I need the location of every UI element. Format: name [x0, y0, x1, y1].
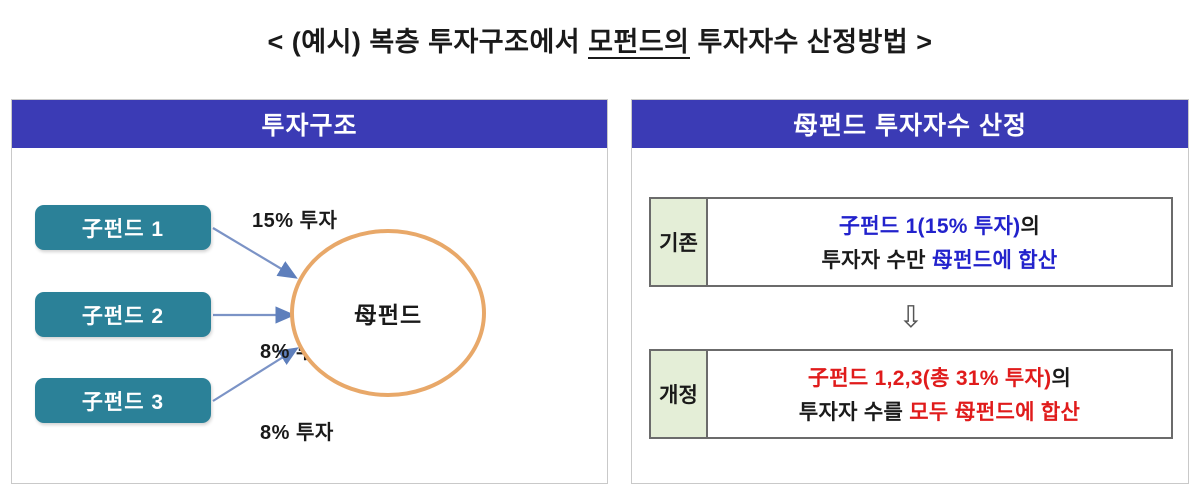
calc-row-label-existing: 기존 — [651, 199, 708, 285]
calc-line-revised-1: 子펀드 1,2,3(총 31% 투자)의 — [808, 362, 1071, 392]
flow-label-15-percent: 15% 투자 — [252, 204, 337, 233]
page-title-prefix: < (예시) 복층 투자구조에서 — [267, 27, 588, 57]
calc-text-run: 의 — [1020, 215, 1040, 238]
parent-fund-circle[interactable]: 母펀드 — [290, 229, 486, 397]
page-title-underlined: 모펀드의 — [588, 27, 689, 59]
investor-count-calc-body: 기존 子펀드 1(15% 투자)의 투자자 수만 母펀드에 합산 ⇩ 개정 子펀… — [632, 148, 1188, 483]
fund-structure-diagram: 子펀드 1 子펀드 2 子펀드 3 15% 투자 8% 투자 8% 투자 母펀드 — [12, 148, 607, 483]
calc-line-revised-2: 투자자 수를 모두 母펀드에 합산 — [799, 396, 1080, 426]
table-row: 기존 子펀드 1(15% 투자)의 투자자 수만 母펀드에 합산 — [649, 197, 1173, 287]
calc-row-content-revised: 子펀드 1,2,3(총 31% 투자)의 투자자 수를 모두 母펀드에 합산 — [708, 351, 1171, 437]
calc-text-run: 투자자 수만 — [822, 249, 932, 272]
calc-comparison-table: 기존 子펀드 1(15% 투자)의 투자자 수만 母펀드에 합산 ⇩ 개정 子펀… — [649, 197, 1173, 439]
arrow-child1-to-parent — [213, 228, 295, 277]
investment-structure-body: 子펀드 1 子펀드 2 子펀드 3 15% 투자 8% 투자 8% 투자 母펀드 — [12, 148, 607, 483]
flow-label-8-percent-b: 8% 투자 — [260, 416, 334, 445]
child-fund-box-2[interactable]: 子펀드 2 — [35, 292, 211, 337]
investor-count-calc-header: 母펀드 투자자수 산정 — [632, 100, 1188, 148]
child-fund-box-3[interactable]: 子펀드 3 — [35, 378, 211, 423]
child-fund-box-1[interactable]: 子펀드 1 — [35, 205, 211, 250]
calc-row-content-existing: 子펀드 1(15% 투자)의 투자자 수만 母펀드에 합산 — [708, 199, 1171, 285]
table-row: 개정 子펀드 1,2,3(총 31% 투자)의 투자자 수를 모두 母펀드에 합… — [649, 349, 1173, 439]
page-title-suffix: 투자자수 산정방법 > — [690, 27, 933, 57]
calc-text-run: 투자자 수를 — [799, 401, 909, 424]
investment-structure-panel: 투자구조 子펀드 1 子펀드 2 子펀드 3 15% 투자 8% 투자 8% 투… — [11, 99, 608, 484]
investment-structure-header: 투자구조 — [12, 100, 607, 148]
calc-text-run: 母펀드에 합산 — [932, 249, 1058, 272]
down-arrow-icon: ⇩ — [649, 287, 1173, 349]
page-title: < (예시) 복층 투자구조에서 모펀드의 투자자수 산정방법 > — [0, 20, 1200, 59]
calc-text-run: 의 — [1051, 367, 1071, 390]
investor-count-calc-panel: 母펀드 투자자수 산정 기존 子펀드 1(15% 투자)의 투자자 수만 母펀드… — [631, 99, 1189, 484]
calc-line-existing-2: 투자자 수만 母펀드에 합산 — [822, 244, 1058, 274]
calc-line-existing-1: 子펀드 1(15% 투자)의 — [839, 210, 1040, 240]
calc-text-run: 子펀드 1,2,3(총 31% 투자) — [808, 367, 1052, 390]
calc-text-run: 모두 母펀드에 합산 — [909, 401, 1080, 424]
calc-row-label-revised: 개정 — [651, 351, 708, 437]
calc-text-run: 子펀드 1(15% 투자) — [839, 215, 1021, 238]
